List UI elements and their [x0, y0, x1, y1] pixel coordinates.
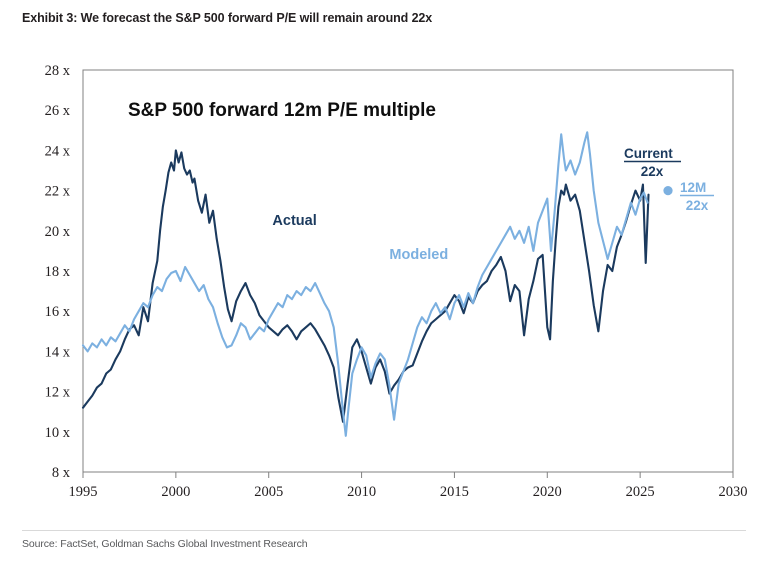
current-label: Current: [624, 146, 673, 161]
footer-divider: [22, 530, 746, 531]
y-tick-label: 10 x: [45, 425, 71, 441]
current-value: 22x: [641, 164, 664, 179]
x-tick-label: 2020: [533, 484, 562, 500]
x-tick-label: 1995: [69, 484, 98, 500]
plot-title: S&P 500 forward 12m P/E multiple: [128, 100, 436, 121]
x-tick-label: 2000: [161, 484, 190, 500]
series-label-modeled: Modeled: [389, 247, 448, 263]
x-tick-label: 2015: [440, 484, 469, 500]
x-tick-label: 2005: [254, 484, 283, 500]
y-tick-label: 16 x: [45, 304, 71, 320]
y-tick-label: 20 x: [45, 224, 71, 240]
x-tick-label: 2010: [347, 484, 376, 500]
y-tick-label: 14 x: [45, 344, 71, 360]
series-line-actual: [83, 150, 649, 421]
y-tick-label: 24 x: [45, 143, 71, 159]
y-tick-label: 28 x: [45, 63, 71, 79]
pe-multiple-chart: 8 x10 x12 x14 x16 x18 x20 x22 x24 x26 x2…: [0, 48, 768, 510]
source-note: Source: FactSet, Goldman Sachs Global In…: [22, 538, 308, 550]
forecast-label: 12M: [680, 180, 706, 195]
y-axis-ticks: 8 x10 x12 x14 x16 x18 x20 x22 x24 x26 x2…: [45, 63, 71, 481]
series-label-actual: Actual: [272, 213, 316, 229]
exhibit-title: Exhibit 3: We forecast the S&P 500 forwa…: [22, 11, 432, 25]
chart-page: Exhibit 3: We forecast the S&P 500 forwa…: [0, 0, 768, 565]
forecast-value: 22x: [686, 198, 709, 213]
y-tick-label: 22 x: [45, 184, 71, 200]
chart-decoration: [83, 70, 733, 472]
forecast-marker: [663, 186, 672, 195]
plot-frame: [83, 70, 733, 472]
chart-container: 8 x10 x12 x14 x16 x18 x20 x22 x24 x26 x2…: [0, 48, 768, 510]
y-tick-label: 26 x: [45, 103, 71, 119]
y-tick-label: 12 x: [45, 385, 71, 401]
series-lines: [83, 132, 649, 436]
x-tick-label: 2030: [719, 484, 748, 500]
x-axis-ticks: 19952000200520102015202020252030: [69, 472, 748, 500]
forecast-dot-marker: [663, 186, 672, 195]
y-tick-label: 18 x: [45, 264, 71, 280]
x-tick-label: 2025: [626, 484, 655, 500]
y-tick-label: 8 x: [52, 465, 71, 481]
